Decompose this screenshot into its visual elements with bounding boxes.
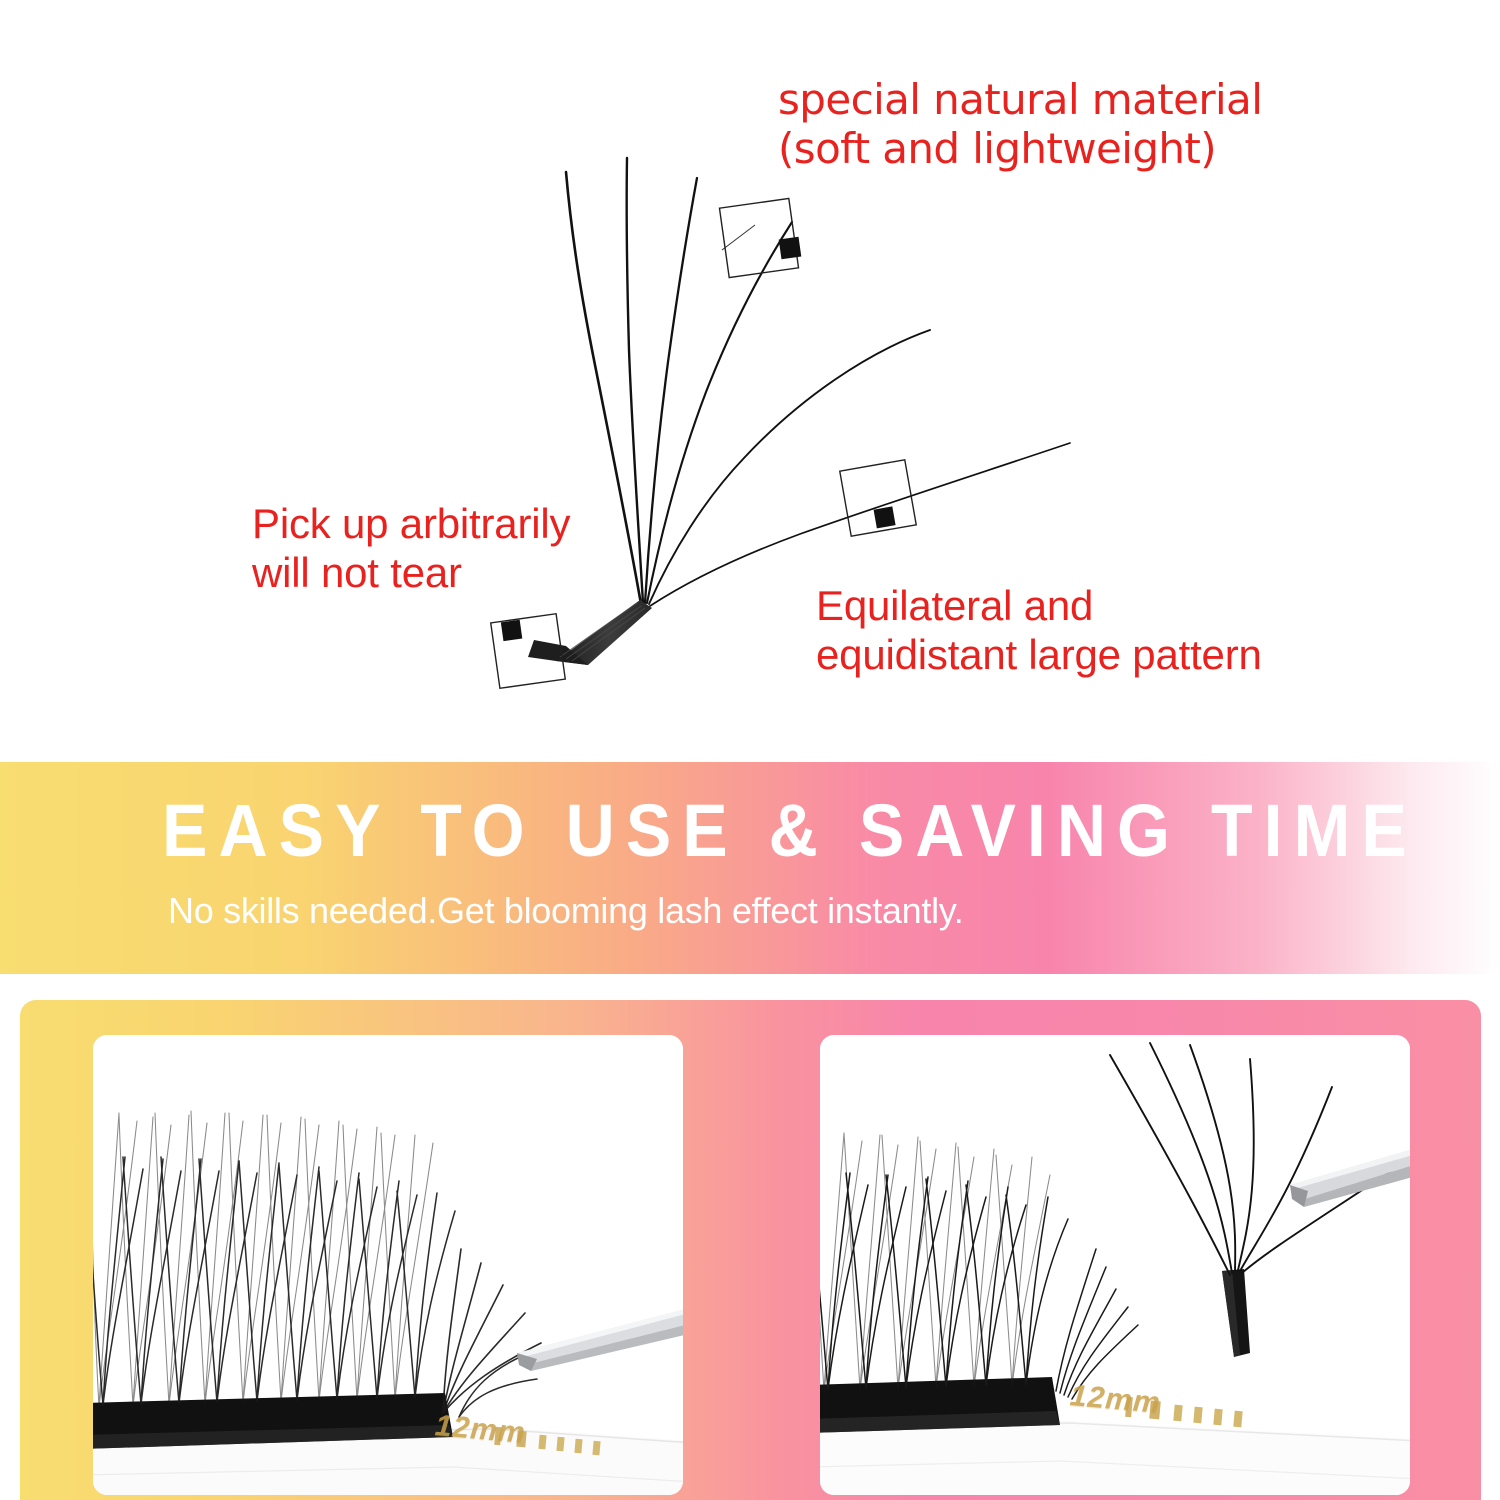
photo-card-lash-tray: 12mm: [93, 1035, 683, 1495]
banner-subheadline: No skills needed.Get blooming lash effec…: [168, 890, 964, 932]
annotation-line-2: will not tear: [252, 549, 462, 596]
banner-headline: EASY TO USE & SAVING TIME: [162, 788, 1418, 873]
lash-fan-base: [528, 600, 652, 665]
callout-marker-upper: [719, 198, 801, 277]
product-photo-panel: 12mm: [20, 1000, 1481, 1500]
annotation-line-1: special natural material: [778, 75, 1262, 124]
single-fan-photo: [820, 1035, 1410, 1495]
annotation-line-1: Pick up arbitrarily: [252, 500, 570, 547]
lash-strands: [566, 158, 1070, 606]
annotation-line-2: (soft and lightweight): [778, 124, 1216, 173]
lash-fan-diagram-section: special natural material(soft and lightw…: [0, 0, 1500, 762]
annotation-line-1: Equilateral and: [816, 582, 1093, 629]
photo-card-single-fan: 12mm: [820, 1035, 1410, 1495]
annotation-equilateral-equidistant: Equilateral andequidistant large pattern: [816, 582, 1262, 679]
annotation-line-2: equidistant large pattern: [816, 631, 1262, 678]
lash-fan-illustration: [0, 0, 1500, 762]
annotation-special-natural-material: special natural material(soft and lightw…: [778, 76, 1262, 173]
lash-tray-photo: [93, 1035, 683, 1495]
headline-banner: EASY TO USE & SAVING TIME No skills need…: [0, 762, 1500, 974]
annotation-pick-up-arbitrarily: Pick up arbitrarilywill not tear: [252, 500, 570, 597]
